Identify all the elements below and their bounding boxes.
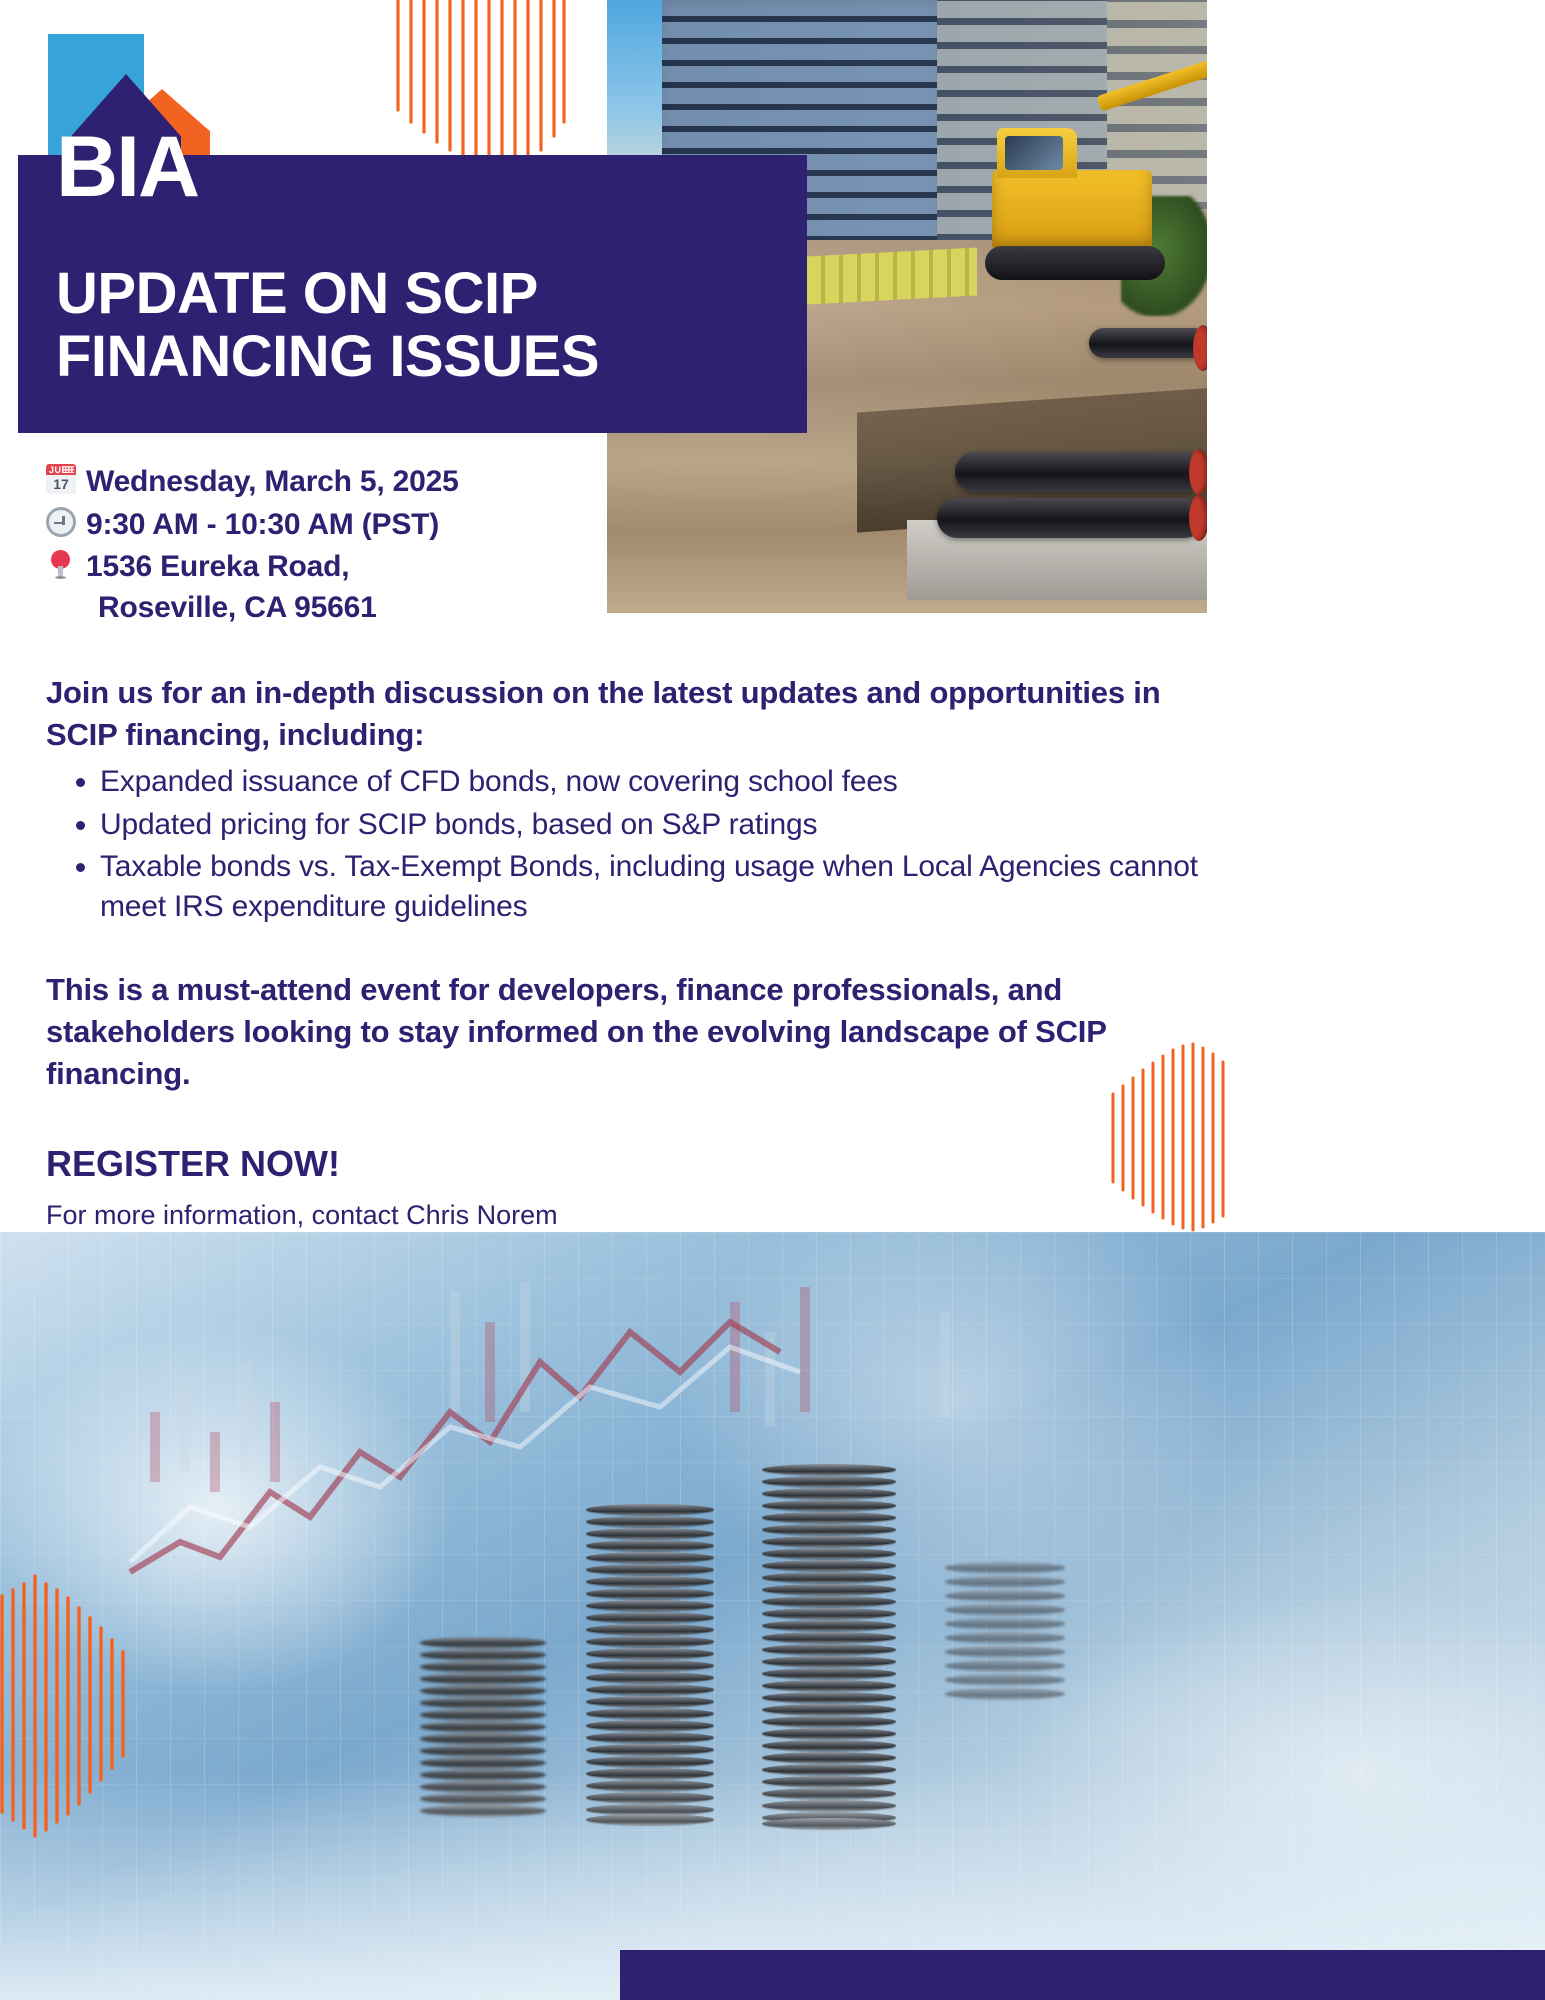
event-details: JUL 17 Wednesday, March 5, 2025 9:30 AM …: [46, 462, 606, 630]
list-item: Expanded issuance of CFD bonds, now cove…: [100, 762, 1206, 802]
event-time-text: 9:30 AM - 10:30 AM (PST): [86, 505, 439, 546]
event-date-text: Wednesday, March 5, 2025: [86, 462, 459, 503]
must-attend-paragraph: This is a must-attend event for develope…: [46, 969, 1206, 1095]
body-content: Join us for an in-depth discussion on th…: [46, 672, 1206, 1271]
title-line-1: UPDATE ON SCIP: [56, 263, 796, 326]
list-item: Taxable bonds vs. Tax-Exempt Bonds, incl…: [100, 847, 1206, 927]
orange-stripes-right-icon: [1108, 1042, 1228, 1232]
list-item: Updated pricing for SCIP bonds, based on…: [100, 805, 1206, 845]
lead-paragraph: Join us for an in-depth discussion on th…: [46, 672, 1206, 756]
photo-material-pallets: [807, 248, 977, 305]
photo-coin-stack: [945, 1562, 1065, 1702]
photo-excavator-track: [985, 246, 1165, 280]
orange-stripes-bottom-left-icon: [0, 1572, 128, 1842]
event-date-row: JUL 17 Wednesday, March 5, 2025: [46, 462, 606, 503]
event-address-line1: 1536 Eureka Road,: [86, 547, 377, 588]
photo-excavator-window: [1005, 136, 1063, 170]
event-address-line2: Roseville, CA 95661: [86, 588, 377, 629]
contact-line: For more information, contact Chris Nore…: [46, 1197, 1206, 1234]
footer-finance-photo: [0, 1232, 1545, 2000]
calendar-day: 17: [46, 475, 76, 494]
clock-icon: [46, 505, 86, 543]
photo-pipe: [1089, 328, 1207, 358]
flyer-page: UPDATE ON SCIP FINANCING ISSUES BIA JUL …: [0, 0, 1545, 2000]
navy-footer-bar: [620, 1950, 1545, 2000]
topics-list: Expanded issuance of CFD bonds, now cove…: [100, 762, 1206, 928]
orange-stripes-top-icon: [392, 0, 568, 180]
event-time-row: 9:30 AM - 10:30 AM (PST): [46, 505, 606, 546]
register-heading: REGISTER NOW!: [46, 1143, 1206, 1185]
photo-pipe: [955, 452, 1205, 492]
event-location-row: 1536 Eureka Road, Roseville, CA 95661: [46, 547, 606, 628]
page-title: UPDATE ON SCIP FINANCING ISSUES: [56, 263, 796, 388]
location-pin-icon: [46, 547, 86, 585]
logo-wordmark: BIA: [56, 124, 198, 210]
photo-excavator-body: [992, 170, 1152, 250]
title-line-2: FINANCING ISSUES: [56, 326, 796, 389]
photo-pipe: [937, 498, 1205, 538]
calendar-icon: JUL 17: [46, 462, 86, 500]
event-location-block: 1536 Eureka Road, Roseville, CA 95661: [86, 547, 377, 628]
